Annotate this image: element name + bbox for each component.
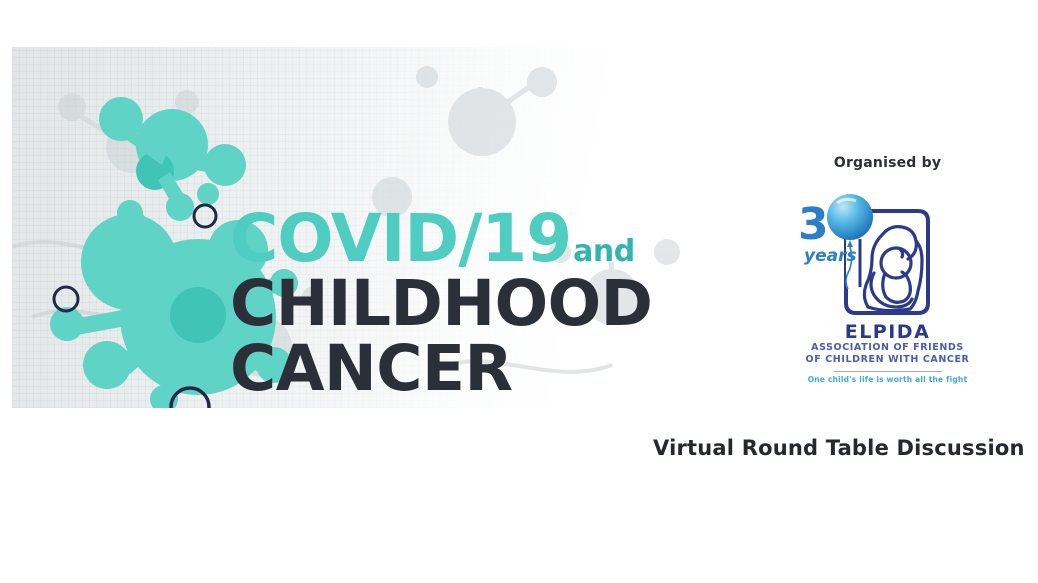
and-conjunction: and <box>573 238 635 267</box>
organised-by-label: Organised by <box>790 155 985 171</box>
elpida-org-name: ELPIDA <box>790 323 985 342</box>
headline-line-2: CHILDHOOD <box>230 274 652 334</box>
elpida-emblem: 3 years <box>790 177 985 325</box>
elpida-tagline: One child's life is worth all the fight <box>790 375 985 384</box>
covid-19-title: COVID/19 <box>230 207 571 270</box>
organiser-block: Organised by <box>790 155 985 384</box>
svg-text:3: 3 <box>798 199 829 250</box>
headline-line-3: CANCER <box>230 339 652 399</box>
event-banner: COVID/19and CHILDHOOD CANCER <box>12 47 712 408</box>
svg-text:years: years <box>804 246 857 266</box>
elpida-divider <box>834 371 942 372</box>
elpida-logo-mark: 3 years <box>790 177 985 325</box>
banner-headline: COVID/19and CHILDHOOD CANCER <box>230 207 652 399</box>
elpida-subtitle-line-1: ASSOCIATION OF FRIENDS <box>790 342 985 354</box>
elpida-subtitle-line-2: OF CHILDREN WITH CANCER <box>790 354 985 366</box>
headline-line-1: COVID/19and <box>230 207 652 270</box>
session-subtitle: Virtual Round Table Discussion <box>653 436 1025 460</box>
